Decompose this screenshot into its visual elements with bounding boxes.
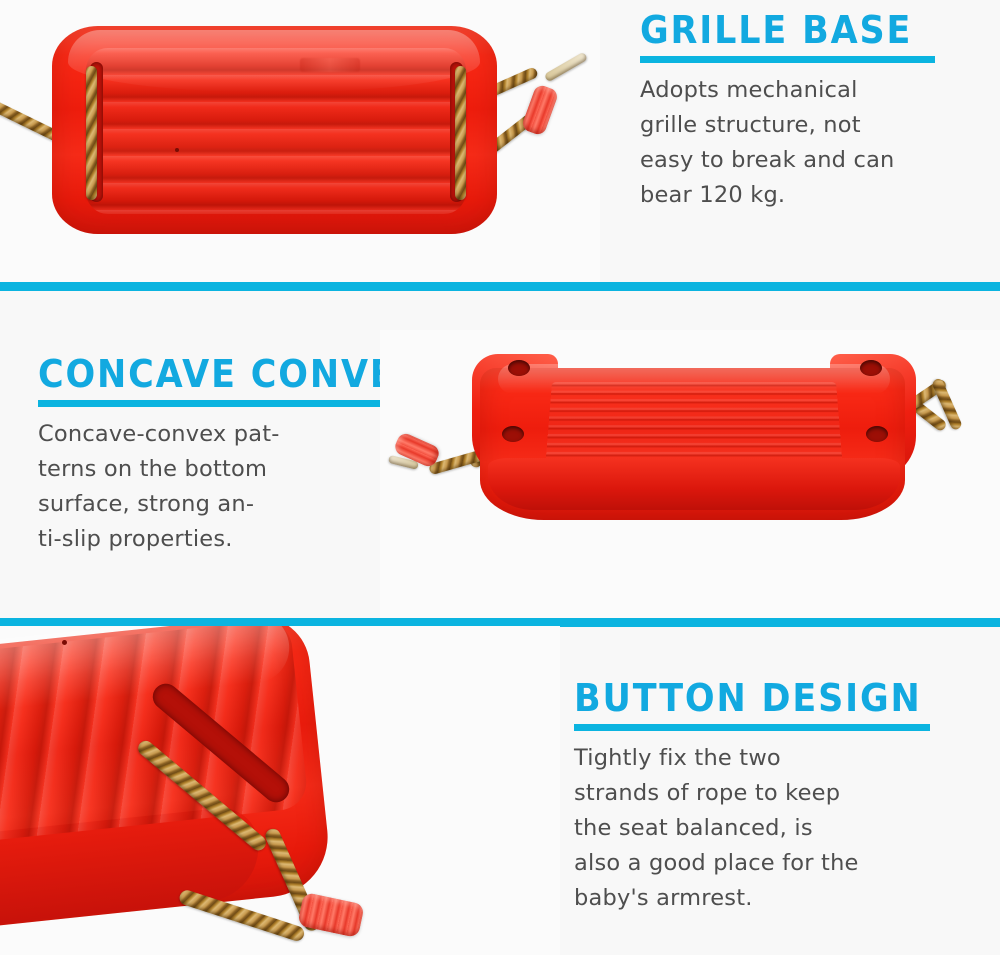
feature-body-button-design: Tightly fix the two strands of rope to k… xyxy=(574,741,954,916)
rope-hole-left-back xyxy=(502,426,524,442)
photo-backdrop xyxy=(0,626,560,955)
feature-heading-button-design: BUTTON DESIGN xyxy=(574,676,924,720)
feature-heading-concave-convex: CONCAVE CONVEX xyxy=(38,352,424,396)
embossed-brand-mark xyxy=(300,58,360,72)
surface-speck xyxy=(175,148,179,152)
heading-underline-bar xyxy=(574,724,930,731)
photo-backdrop xyxy=(0,0,600,282)
section-divider-1 xyxy=(0,282,1000,291)
rope-hole-right-back xyxy=(866,426,888,442)
product-photo-grille-base xyxy=(0,0,600,282)
feature-text-button-design: BUTTON DESIGN Tightly fix the two strand… xyxy=(574,676,954,916)
rope-hole-right-front xyxy=(860,360,882,376)
rope-button-clamp xyxy=(521,83,560,136)
surface-speck xyxy=(62,640,67,645)
rope-hole-left-front xyxy=(508,360,530,376)
seat-front-lip xyxy=(488,458,900,510)
product-photo-button-design xyxy=(0,626,560,955)
feature-body-grille-base: Adopts mechanical grille structure, not … xyxy=(640,73,960,213)
grille-rib-pattern xyxy=(0,626,309,844)
rope-button-clamp xyxy=(297,892,365,938)
rope-through-slot-left xyxy=(86,66,97,200)
infographic-page: GRILLE BASE Adopts mechanical grille str… xyxy=(0,0,1000,955)
photo-backdrop xyxy=(380,330,1000,618)
heading-underline-bar xyxy=(38,400,434,407)
grille-rib-pattern xyxy=(86,48,466,214)
feature-heading-grille-base: GRILLE BASE xyxy=(640,8,934,52)
heading-underline-bar xyxy=(640,56,935,63)
rope-through-slot-right xyxy=(455,66,466,200)
rope-frayed-tail xyxy=(544,52,588,83)
product-photo-concave-convex xyxy=(380,330,1000,618)
feature-text-grille-base: GRILLE BASE Adopts mechanical grille str… xyxy=(640,8,960,213)
